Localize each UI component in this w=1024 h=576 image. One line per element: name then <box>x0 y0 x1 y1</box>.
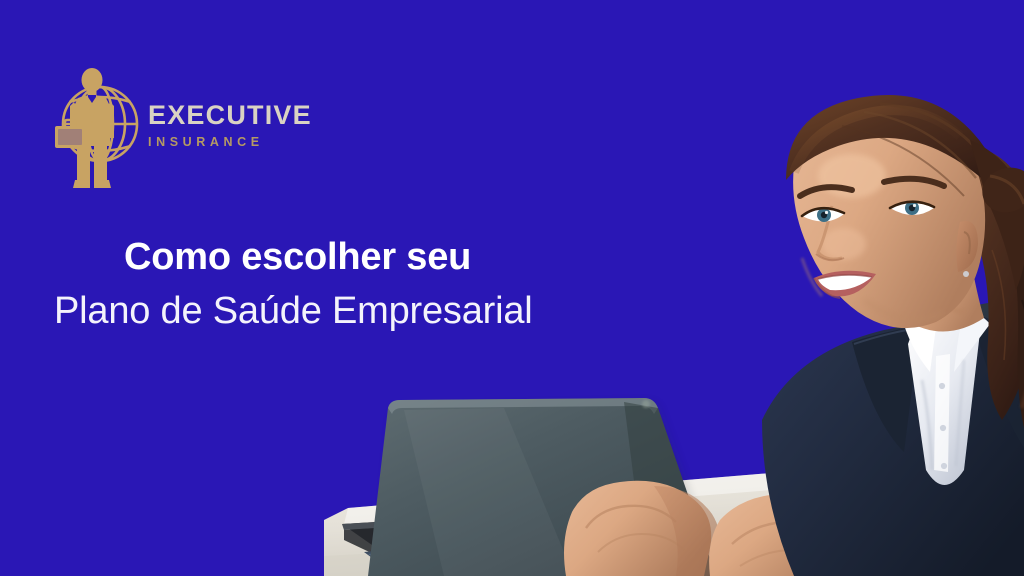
hair-front <box>786 95 1024 290</box>
desk-notebook <box>342 516 520 558</box>
headline-line-1: Como escolher seu <box>54 236 614 280</box>
businessman-globe-logo-icon <box>52 62 144 190</box>
hair-back <box>926 145 1024 428</box>
logo-subtitle: INSURANCE <box>148 136 298 149</box>
brand-logo[interactable]: EXECUTIVE INSURANCE <box>52 60 292 190</box>
promo-banner: EXECUTIVE INSURANCE Como escolher seu Pl… <box>0 0 1024 576</box>
right-hand <box>709 494 869 576</box>
face <box>793 112 985 328</box>
headline-block: Como escolher seu Plano de Saúde Empresa… <box>54 236 614 334</box>
eye-left <box>802 208 844 222</box>
logo-title: EXECUTIVE <box>148 102 298 129</box>
laptop <box>368 398 716 576</box>
desk-phone <box>364 540 530 576</box>
logo-wordmark: EXECUTIVE INSURANCE <box>148 102 298 149</box>
left-hand <box>564 481 722 576</box>
headline-line-2: Plano de Saúde Empresarial <box>54 289 614 335</box>
dress-shirt <box>902 310 990 485</box>
mouth <box>814 271 876 298</box>
desk-surface <box>324 452 1024 576</box>
blazer-sleeve <box>794 382 1024 576</box>
neck <box>900 244 984 332</box>
office-chair <box>884 300 1024 576</box>
eye-right <box>890 201 934 215</box>
blazer-torso <box>762 314 1024 576</box>
